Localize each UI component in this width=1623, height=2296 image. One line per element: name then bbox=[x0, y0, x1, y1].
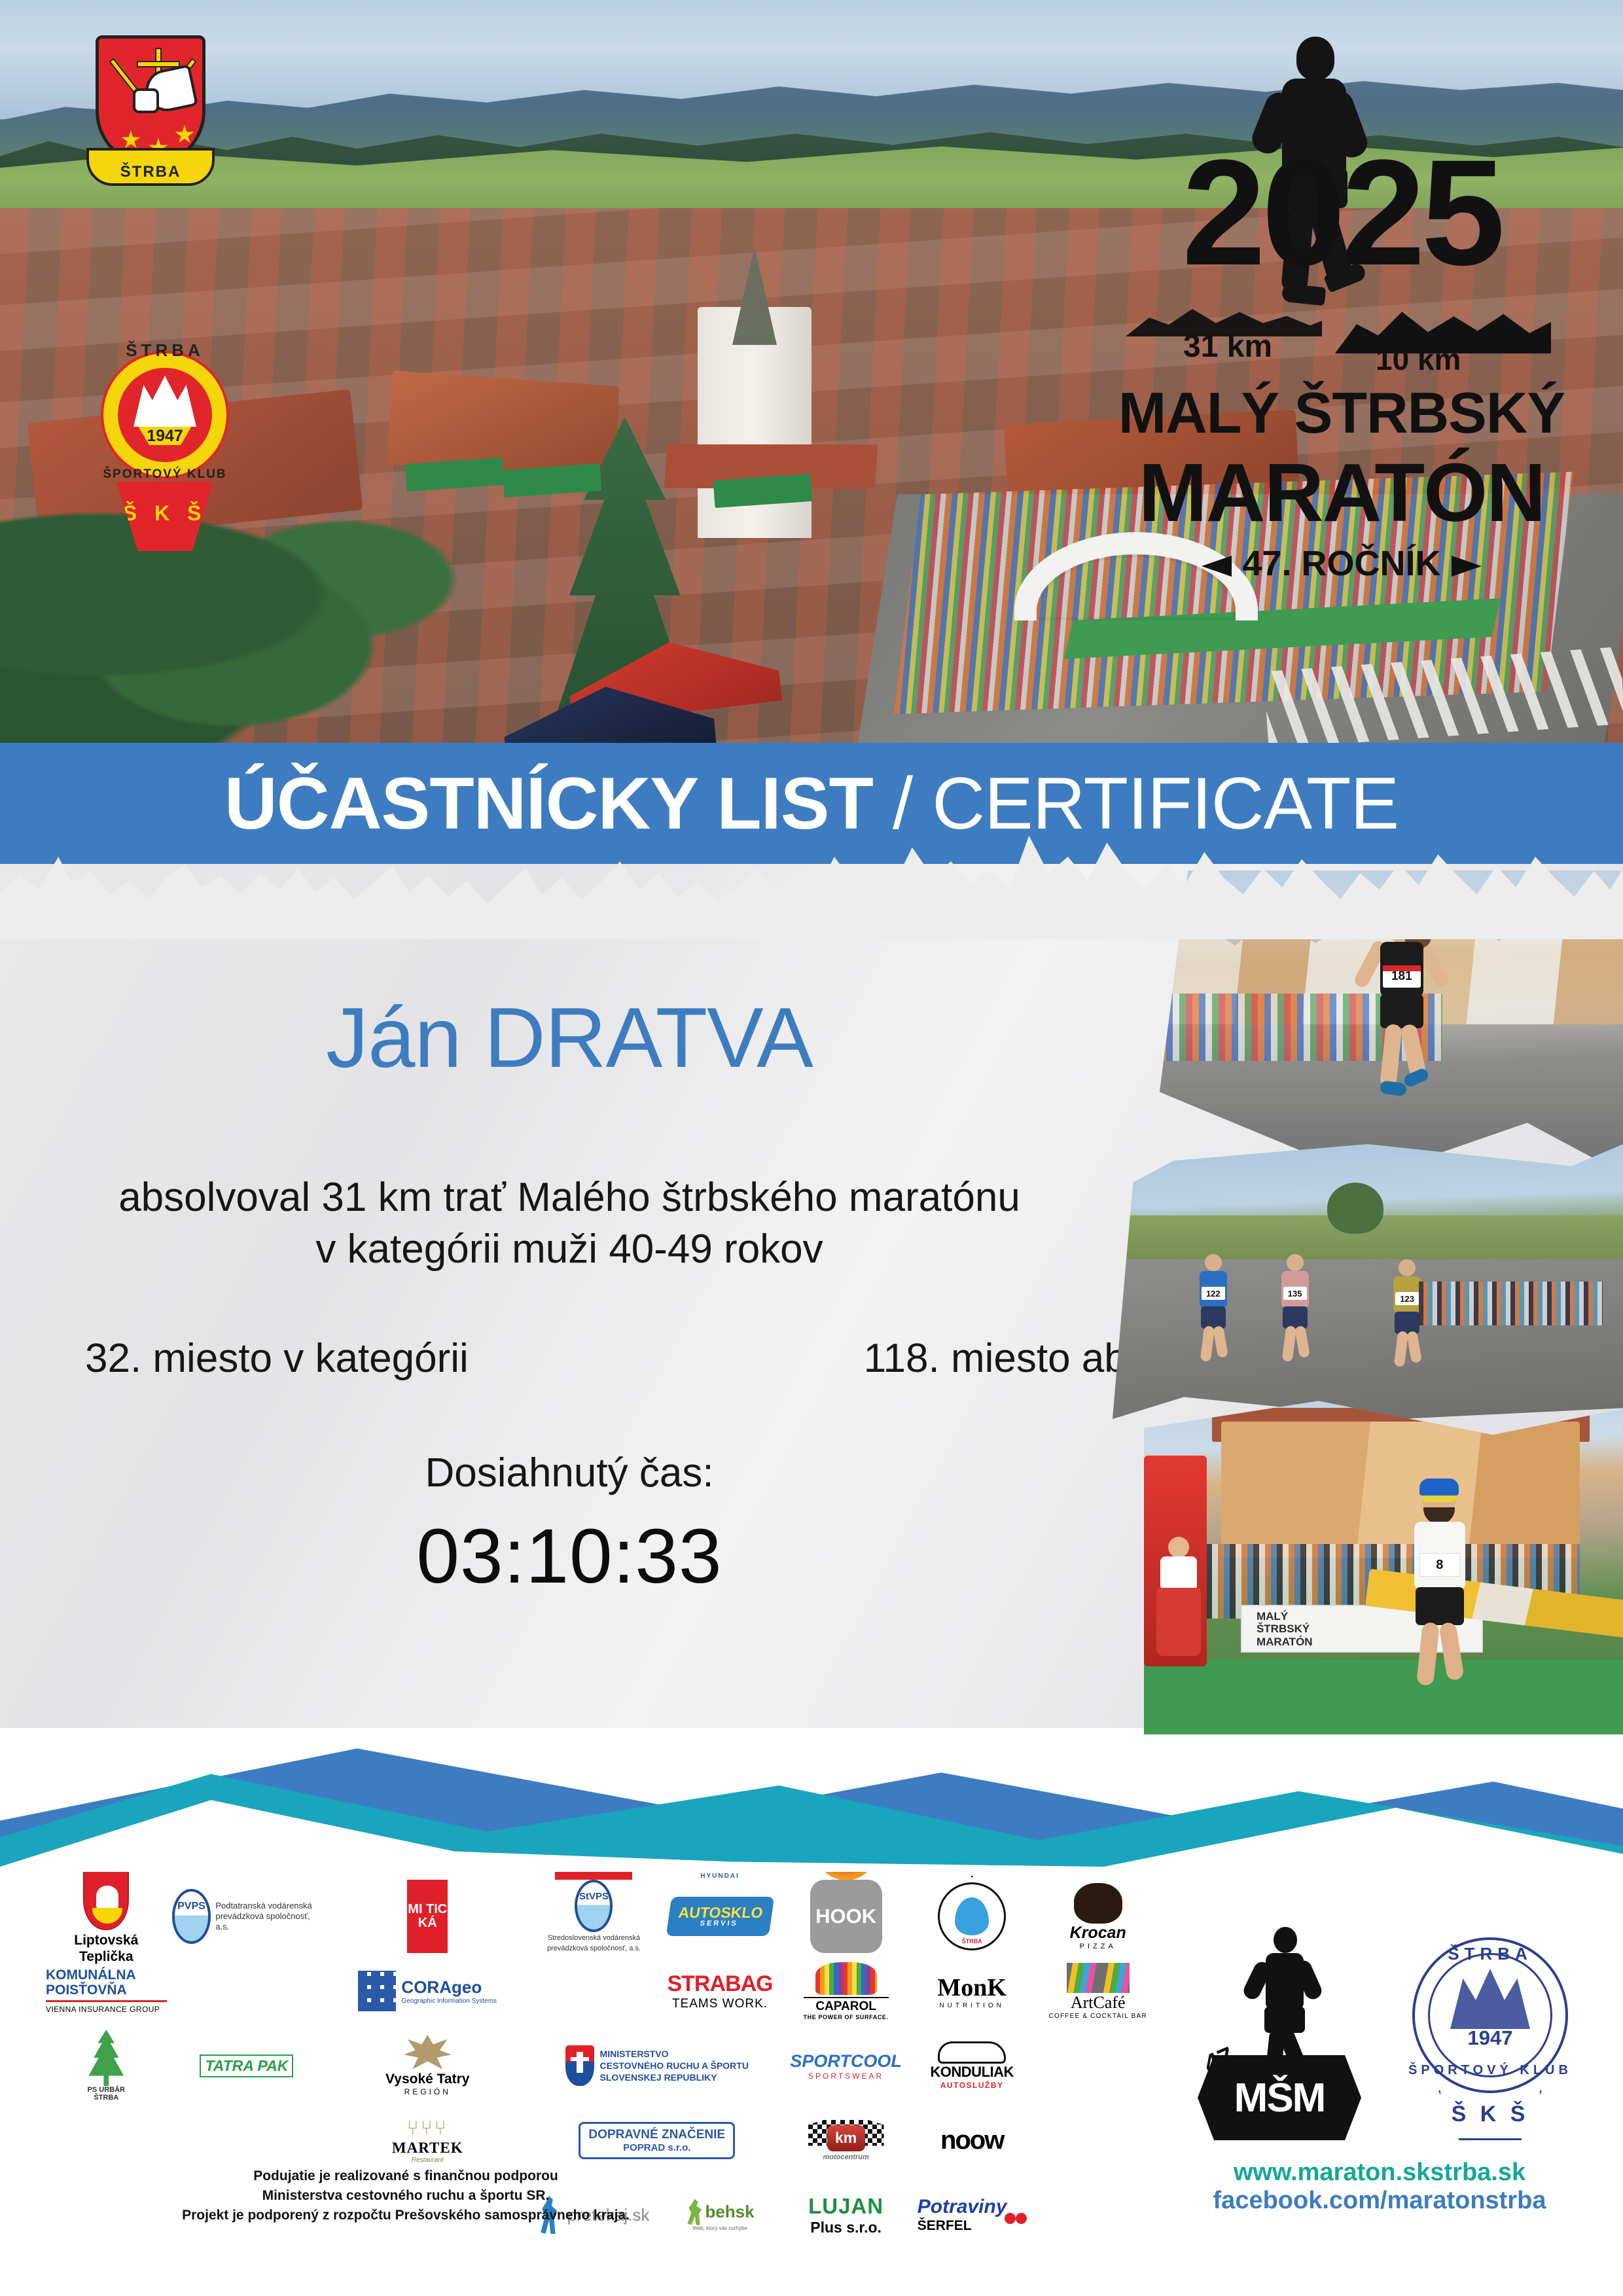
elephant-icon bbox=[815, 1962, 877, 1995]
title-sub: CERTIFICATE bbox=[932, 762, 1399, 844]
arrow-left-icon bbox=[1202, 556, 1232, 577]
sponsor-krocan-pizza[interactable]: Krocan PIZZA bbox=[1037, 1882, 1158, 1950]
sponsor-label: LUJAN bbox=[808, 2194, 883, 2219]
photo-bib-number: 135 bbox=[1283, 1287, 1307, 1300]
sponsor-tatrapak[interactable]: TATRA PAK bbox=[172, 2032, 322, 2100]
sks-club-emblem: ŠTRBA 1947 ŠPORTOVÝ KLUB Š K Š bbox=[93, 327, 237, 589]
sponsor-sublabel: SPORTSWEAR bbox=[790, 2072, 902, 2081]
sponsor-label: Potraviny bbox=[918, 2196, 1007, 2218]
sponsor-caparol[interactable]: CAPAROL THE POWER OF SURFACE. bbox=[785, 1957, 906, 2025]
photo-runner: 122 bbox=[1194, 1254, 1231, 1365]
crest-banner-label: ŠTRBA bbox=[120, 163, 181, 181]
sponsor-sublabel: VIENNA INSURANCE GROUP bbox=[46, 2005, 167, 2014]
crest-star-icon bbox=[121, 130, 141, 150]
stamp-year-label: 1947 bbox=[1428, 2026, 1552, 2050]
sponsor-martek[interactable]: ⑂⑂⑂ MARTEK Restaurant bbox=[327, 2106, 528, 2174]
sponsor-label: CORAgeo bbox=[401, 1977, 497, 1998]
sponsor-pvps[interactable]: PVPS Podtatranská vodárenská prevádzková… bbox=[172, 1882, 322, 1950]
stamp-bottom-label: ŠPORTOVÝ KLUB bbox=[1406, 2063, 1575, 2078]
sponsor-potraviny-serfel[interactable]: Potraviny ŠERFEL bbox=[912, 2181, 1033, 2249]
sponsor-sublabel: Stredoslovenská vodárenská bbox=[547, 1934, 641, 1943]
sponsor-pd-strba[interactable]: ŠTRBA bbox=[912, 1882, 1033, 1950]
sponsor-autosklo[interactable]: AUTOSKLO SERVIS bbox=[660, 1882, 781, 1950]
time-label: Dosiahnutý čas: bbox=[0, 1450, 1139, 1496]
page-title: ÚČASTNÍCKY LIST / CERTIFICATE bbox=[224, 761, 1399, 846]
sponsor-sublabel: SERVIS bbox=[676, 1920, 761, 1928]
sks-top-label: ŠTRBA bbox=[101, 340, 229, 361]
sponsor-label: PS URBÁR bbox=[85, 2086, 127, 2094]
sponsor-monk-nutrition[interactable]: MonK NUTRITION bbox=[912, 1957, 1033, 2025]
grid-icon bbox=[358, 1971, 396, 2011]
sponsor-label: KONDULIAK bbox=[930, 2064, 1014, 2081]
mountain-divider bbox=[0, 1721, 1623, 1872]
sponsor-sublabel: COFFEE & COCKTAIL BAR bbox=[1049, 2013, 1147, 2020]
sponsor-dopravne-znacenie[interactable]: DOPRAVNÉ ZNAČENIE POPRAD s.r.o. bbox=[533, 2106, 780, 2174]
water-drop-icon bbox=[955, 1897, 989, 1935]
photo-finish-line: MALÝ ŠTRBSKÝ MARATÓN 8 bbox=[1144, 1394, 1623, 1734]
distance-long-label: 31 km bbox=[1183, 329, 1272, 365]
sponsor-spacer bbox=[172, 1957, 322, 2025]
sponsor-label: PVPS bbox=[177, 1901, 205, 1912]
strba-coat-of-arms: ŠTRBA bbox=[86, 29, 215, 192]
sponsor-sublabel: prevádzková spoločnosť, a.s. bbox=[547, 1945, 641, 1953]
sponsor-spacer bbox=[1037, 2032, 1158, 2100]
sponsor-label: STRABAG bbox=[667, 1971, 772, 1997]
certificate-page: ŠTRBA ŠTRBA 1947 ŠPORTOVÝ KLUB Š K Š bbox=[0, 0, 1623, 2296]
crest-fist-icon bbox=[133, 88, 159, 113]
sponsor-komunalna-poistovna[interactable]: KOMUNÁLNA POISŤOVŇA VIENNA INSURANCE GRO… bbox=[46, 1957, 167, 2025]
cutlery-icon: ⑂⑂⑂ bbox=[392, 2117, 463, 2140]
sponsor-strabag[interactable]: STRABAG TEAMS WORK. bbox=[660, 1957, 781, 2025]
sponsor-sublabel: AUTOSLUŽBY bbox=[930, 2081, 1014, 2090]
colorbars-icon bbox=[1067, 1963, 1130, 1993]
event-edition-label: 47. ROČNÍK bbox=[1242, 544, 1440, 583]
photo-bib-number: 123 bbox=[1395, 1292, 1419, 1305]
sponsor-sublabel: Podtatranská vodárenská bbox=[215, 1901, 321, 1911]
photo-montage: 181 122 135 bbox=[1113, 870, 1623, 1734]
stamp-tail: Š K Š bbox=[1438, 2090, 1542, 2140]
description-line-2: v kategórii muži 40-49 rokov bbox=[0, 1223, 1139, 1275]
crest-star-icon bbox=[175, 125, 194, 145]
description-line-1: absolvoval 31 km trať Malého štrbského m… bbox=[0, 1172, 1139, 1223]
sponsor-sublabel: POPRAD s.r.o. bbox=[588, 2142, 725, 2153]
arrow-right-icon bbox=[1452, 556, 1482, 577]
sponsor-liptovska-teplicka[interactable]: Liptovská Teplička bbox=[46, 1882, 167, 1950]
photo-runner: 135 bbox=[1276, 1254, 1313, 1365]
event-logo: 2025 31 km 10 km MALÝ ŠTRBSKÝ MARATÓN 47… bbox=[1113, 33, 1571, 609]
photo-winner: 8 bbox=[1396, 1482, 1481, 1698]
crest-banner: ŠTRBA bbox=[86, 148, 215, 186]
stamp-top-label: ŠTRBA bbox=[1412, 1944, 1568, 1964]
photo-folk-costume-girl bbox=[1154, 1537, 1202, 1668]
sks-club-stamp: ŠTRBA 1947 ŠPORTOVÝ KLUB Š K Š bbox=[1399, 1928, 1580, 2144]
sponsor-spacer bbox=[533, 1957, 654, 2025]
stamp-initials-label: Š K Š bbox=[1452, 2102, 1529, 2127]
sponsor-ministerstvo[interactable]: MINISTERSTVO CESTOVNÉHO RUCHU A ŠPORTU S… bbox=[533, 2032, 780, 2100]
sponsor-sublabel: Plus s.r.o. bbox=[808, 2219, 883, 2236]
tree-icon bbox=[85, 2030, 127, 2086]
sponsor-sublabel: Geographic Information Systems bbox=[401, 1998, 497, 2005]
sponsor-sublabel: THE POWER OF SURFACE. bbox=[804, 2014, 889, 2020]
sponsor-label: ArtCafé bbox=[1049, 1993, 1147, 2013]
sponsor-label: MonK bbox=[937, 1973, 1007, 2002]
photo-runner: 181 bbox=[1367, 910, 1438, 1107]
sponsor-label: TATRA PAK bbox=[200, 2054, 293, 2077]
sponsor-label: DOPRAVNÉ ZNAČENIE bbox=[588, 2128, 725, 2142]
sponsor-sublabel: Restaurant bbox=[392, 2157, 463, 2164]
msm-logo: 47. MŠM bbox=[1198, 1927, 1361, 2156]
finish-time: 03:10:33 bbox=[0, 1512, 1139, 1601]
sponsor-km-motocentrum[interactable]: km motocentrum bbox=[785, 2106, 906, 2174]
sponsor-label: MINISTERSTVO bbox=[600, 2048, 749, 2060]
category-place: 32. miesto v kategórii bbox=[85, 1335, 469, 1382]
sponsor-label: CAPAROL bbox=[804, 1997, 889, 2014]
sks-initials-label: Š K Š bbox=[116, 501, 213, 526]
header-photo: ŠTRBA ŠTRBA 1947 ŠPORTOVÝ KLUB Š K Š bbox=[0, 0, 1623, 743]
sks-bottom-label: ŠPORTOVÝ KLUB bbox=[93, 467, 237, 482]
sponsor-spacer bbox=[1037, 2106, 1158, 2174]
sponsor-label: KOMUNÁLNA POISŤOVŇA bbox=[46, 1968, 167, 1997]
sponsor-artcafe[interactable]: ArtCafé COFFEE & COCKTAIL BAR bbox=[1037, 1957, 1158, 2025]
sponsor-konduliak[interactable]: KONDULIAK AUTOSLUŽBY bbox=[912, 2032, 1033, 2100]
sponsor-sublabel: CESTOVNÉHO RUCHU A ŠPORTU bbox=[600, 2060, 749, 2072]
photo-bib-number: 8 bbox=[1419, 1553, 1460, 1577]
sponsor-ps-urbar-strba[interactable]: PS URBÁR ŠTRBA bbox=[46, 2032, 167, 2100]
photo-trees bbox=[0, 461, 552, 743]
sponsor-sublabel: SLOVENSKEJ REPUBLIKY bbox=[600, 2072, 749, 2083]
sponsor-sublabel: ŠTRBA bbox=[85, 2094, 127, 2102]
placement-row: 32. miesto v kategórii 118. miesto abs. bbox=[85, 1335, 1158, 1382]
photo-bib-number: 122 bbox=[1202, 1287, 1225, 1300]
event-edition: 47. ROČNÍK bbox=[1113, 543, 1571, 584]
event-year: 2025 bbox=[1113, 137, 1571, 288]
participant-name: Ján DRATVA bbox=[0, 988, 1139, 1086]
sponsor-label: SPORTCOOL bbox=[790, 2051, 902, 2072]
sponsor-sublabel: Web, ktorý vás rozhýbe bbox=[685, 2225, 754, 2231]
sponsor-sportcool[interactable]: SPORTCOOL SPORTSWEAR bbox=[785, 2032, 906, 2100]
sponsor-hook[interactable]: HOOK bbox=[785, 1882, 906, 1950]
sponsor-label: MARTEK bbox=[392, 2140, 463, 2157]
facebook-link[interactable]: facebook.com/maratonstrba bbox=[1164, 2187, 1596, 2215]
photo-runner-pack bbox=[1419, 1282, 1603, 1325]
sponsor-corageo[interactable]: CORAgeo Geographic Information Systems bbox=[327, 1957, 528, 2025]
sponsor-lujan[interactable]: LUJAN Plus s.r.o. bbox=[785, 2181, 906, 2249]
sponsor-sublabel: ŠTRBA bbox=[962, 1938, 982, 1945]
sponsor-stvps[interactable]: StVPS Stredoslovenská vodárenská prevádz… bbox=[533, 1882, 654, 1950]
sponsor-noow[interactable]: noow bbox=[912, 2106, 1033, 2174]
dots-icon bbox=[1005, 2213, 1027, 2227]
photo-runners-hill: 122 135 123 bbox=[1113, 1144, 1623, 1419]
sponsor-label: km bbox=[827, 2125, 865, 2151]
distance-short-label: 10 km bbox=[1376, 342, 1461, 377]
turkey-icon bbox=[1074, 1883, 1122, 1924]
crest-crossbar-icon bbox=[137, 61, 180, 67]
sponsor-sublabel: prevádzková spoločnosť, a.s. bbox=[215, 1911, 321, 1932]
sponsor-spacer bbox=[46, 2106, 167, 2174]
sponsor-label: Vysoké Tatry bbox=[385, 2072, 469, 2087]
event-name-line2: MARATÓN bbox=[1113, 445, 1571, 540]
slovak-coat-of-arms-icon bbox=[565, 2045, 594, 2086]
sponsor-label: StVPS bbox=[579, 1891, 609, 1902]
photo-tree bbox=[1327, 1183, 1383, 1234]
sks-year-label: 1947 bbox=[118, 427, 212, 446]
lamb-icon bbox=[96, 1886, 118, 1910]
certificate-description: absolvoval 31 km trať Malého štrbského m… bbox=[0, 1172, 1139, 1276]
edelweiss-icon bbox=[404, 2035, 451, 2072]
sponsor-vysoke-tatry[interactable]: Vysoké Tatry REGIÓN bbox=[327, 2032, 528, 2100]
distance-row: 31 km 10 km bbox=[1119, 295, 1564, 367]
finish-banner-text: MALÝ ŠTRBSKÝ MARATÓN bbox=[1257, 1610, 1313, 1649]
footer-right-column: V Štrbe 13. júla 2025 47. MŠM ŠTRBA 1947… bbox=[1164, 1812, 1596, 2296]
sponsor-label: noow bbox=[940, 2126, 1003, 2155]
sponsor-sublabel: PIZZA bbox=[1070, 1943, 1126, 1950]
sponsor-label: AUTOSKLO bbox=[677, 1905, 764, 1920]
sponsor-label: Krocan bbox=[1070, 1924, 1126, 1943]
msm-initials-label: MŠM bbox=[1198, 2055, 1361, 2140]
sponsor-spacer bbox=[1037, 2181, 1158, 2249]
sponsor-sublabel: NUTRITION bbox=[937, 2002, 1007, 2009]
divider-line bbox=[46, 2000, 167, 2002]
website-link[interactable]: www.maraton.skstrba.sk bbox=[1164, 2159, 1596, 2187]
sponsor-label: MI TIC KÁ bbox=[407, 1903, 448, 1930]
title-band: ÚČASTNÍCKY LIST / CERTIFICATE bbox=[0, 743, 1623, 864]
sponsor-sublabel: ŠERFEL bbox=[918, 2218, 1007, 2234]
sponsor-spacer bbox=[46, 2255, 167, 2296]
title-main: ÚČASTNÍCKY LIST bbox=[224, 762, 873, 844]
crest-shield-icon bbox=[96, 35, 205, 166]
sponsor-sublabel: REGIÓN bbox=[385, 2087, 469, 2096]
sponsor-sublabel: motocentrum bbox=[808, 2153, 884, 2161]
sponsor-spacer bbox=[172, 2106, 322, 2174]
sponsor-miticka[interactable]: MI TIC KÁ bbox=[327, 1882, 528, 1950]
event-name-line1: MALÝ ŠTRBSKÝ bbox=[1113, 380, 1571, 446]
web-links: www.maraton.skstrba.sk facebook.com/mara… bbox=[1164, 2159, 1596, 2215]
support-note: Podujatie je realizované s finančnou pod… bbox=[46, 2166, 766, 2225]
car-icon bbox=[938, 2041, 1006, 2064]
sponsor-label: HOOK bbox=[815, 1905, 876, 1928]
sks-tail: Š K Š bbox=[116, 482, 213, 551]
sponsor-sublabel: TEAMS WORK. bbox=[667, 1997, 772, 2011]
sponsor-label: Liptovská bbox=[74, 1933, 138, 1949]
title-separator: / bbox=[873, 762, 932, 844]
